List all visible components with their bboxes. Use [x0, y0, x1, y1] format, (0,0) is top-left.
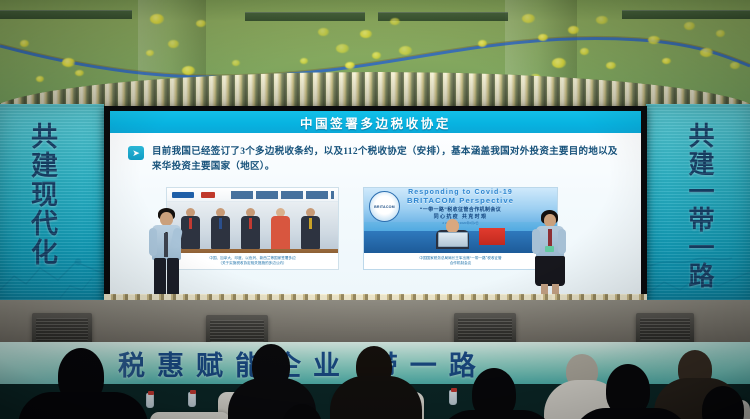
light-dot: [300, 58, 308, 64]
presenter-arm-right: [558, 229, 566, 254]
water-bottle: [449, 390, 457, 405]
light-dot: [522, 14, 535, 23]
audience-area: [0, 330, 750, 419]
photo-person-body: [301, 216, 320, 249]
slide-title: 中国签署多边税收协定: [300, 113, 451, 132]
photo-person-body: [241, 216, 260, 249]
photo-person: [271, 208, 290, 249]
light-dot: [318, 28, 329, 36]
light-dot: [478, 40, 487, 47]
light-dot: [606, 62, 616, 69]
audience-member-shoulders: [438, 410, 556, 419]
slide-image-signing-ceremony: 中国、加拿大、印度、以色列、新西兰等国家签署多边 （关于实施税收协定相关措施的多…: [166, 187, 339, 270]
light-dot: [360, 30, 372, 38]
audience-member-shoulders: [330, 376, 422, 419]
britacom-speaker-head: [446, 219, 459, 233]
photo-person: [301, 208, 320, 249]
light-dot: [399, 46, 412, 55]
female-presenter: [529, 210, 571, 306]
light-dot: [684, 22, 695, 30]
banner-right-text: 共建一带一路: [686, 122, 712, 290]
chevron-right-icon: ➤: [128, 146, 144, 160]
light-dot: [662, 58, 671, 64]
britacom-seal-icon: BRITACOM: [369, 191, 400, 222]
light-dot: [716, 30, 725, 37]
sat-logo: [201, 192, 215, 198]
water-bottle: [188, 392, 196, 407]
light-dot: [552, 58, 566, 68]
photo-caption: 中国、加拿大、印度、以色列、新西兰等国家签署多边 （关于实施税收协定相关措施的多…: [167, 253, 338, 269]
photo-header-band: [167, 188, 338, 202]
audience-member-head: [702, 386, 744, 419]
photo-caption-line2: （关于实施税收协定相关措施的多边公约）: [218, 261, 286, 266]
light-dot: [372, 52, 381, 59]
light-dot: [168, 40, 179, 48]
light-dot: [648, 36, 660, 44]
photo-person: [211, 208, 230, 249]
presenter-arm-left: [149, 228, 157, 256]
light-dot: [62, 58, 75, 67]
photo-person-body: [211, 216, 230, 249]
presenter-skirt: [535, 256, 565, 286]
light-dot: [596, 16, 608, 24]
audience-chair: [150, 412, 230, 419]
light-dot: [232, 60, 240, 66]
light-dot: [580, 48, 589, 55]
light-dot: [150, 14, 164, 24]
slide-bullet: ➤ 目前我国已经签订了3个多边税收条约，以及112个税收协定（安排），基本涵盖我…: [128, 145, 627, 174]
presenter-arm-left: [532, 229, 540, 254]
conference-stage-photo: 共建现代化 共建一带一路 中国签署多边税收协定 ➤ 目前我国已经签订了3个多边税…: [0, 0, 750, 419]
presenter-head: [160, 212, 173, 226]
photo-person-body: [271, 216, 290, 249]
banner-left-text: 共建现代化: [28, 122, 55, 267]
light-dot: [700, 48, 713, 57]
oecd-logo: [172, 192, 194, 198]
light-dot: [146, 50, 154, 56]
light-dot: [75, 70, 84, 76]
light-dot: [390, 18, 400, 25]
held-document: [545, 246, 554, 252]
light-dot: [182, 66, 195, 75]
britacom-laptop: [438, 232, 468, 247]
slide-title-bar: 中国签署多边税收协定: [110, 111, 641, 133]
slide-bullet-text: 目前我国已经签订了3个多边税收条约，以及112个税收协定（安排），基本涵盖我国对…: [152, 145, 627, 174]
right-led-banner-panel: 共建一带一路: [646, 104, 750, 302]
light-dot: [345, 62, 355, 69]
light-dot: [20, 40, 29, 47]
photo-header-title: [231, 191, 334, 199]
presenter-tie: [548, 229, 552, 247]
light-dot: [568, 26, 579, 34]
britacom-caption-line2: 合作机制会议: [450, 261, 472, 266]
audience-member-shoulders: [18, 392, 148, 419]
male-presenter: [146, 208, 188, 306]
light-dot: [730, 62, 740, 69]
china-flag: [479, 228, 505, 245]
left-led-banner-panel: 共建现代化: [0, 104, 104, 302]
photo-person: [241, 208, 260, 249]
light-dot: [36, 76, 44, 82]
light-dot: [196, 20, 206, 27]
presenter-tie: [164, 233, 168, 257]
light-dot: [538, 34, 548, 41]
light-dot: [336, 44, 349, 53]
water-bottle: [146, 393, 154, 408]
